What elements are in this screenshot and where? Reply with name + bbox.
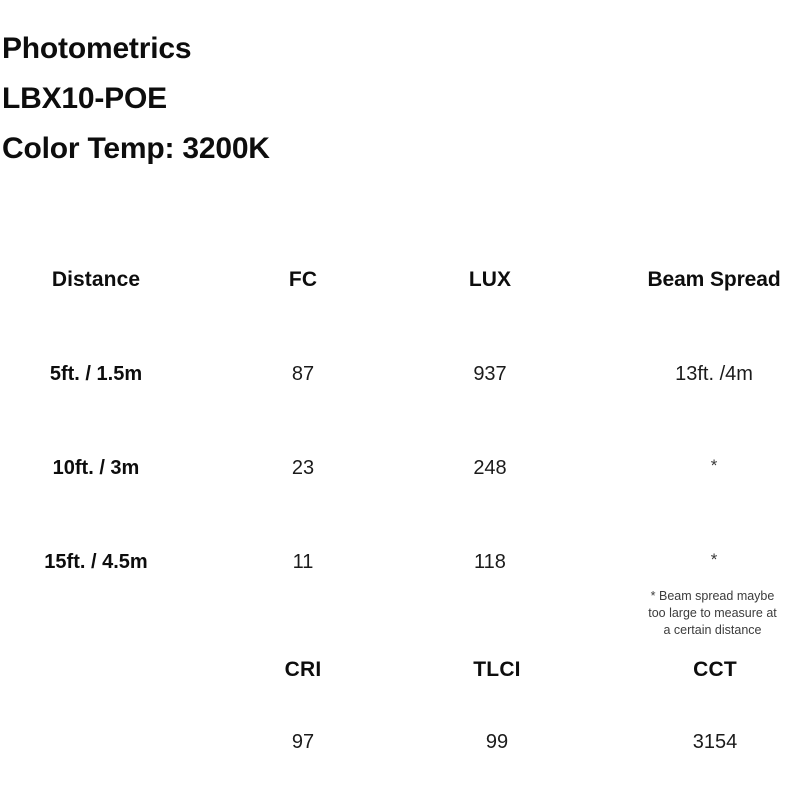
table-row: 5ft. / 1.5m 87 937 13ft. /4m — [0, 359, 800, 453]
document-title-block: Photometrics LBX10-POE Color Temp: 3200K — [2, 24, 702, 174]
page-title: Photometrics — [2, 24, 702, 74]
metrics-table: CRI TLCI CCT 97 99 3154 — [0, 655, 800, 799]
column-header-cri: CRI — [233, 655, 373, 685]
cell-distance: 15ft. / 4.5m — [0, 547, 192, 577]
column-header-distance: Distance — [0, 265, 192, 295]
table-header-row: Distance FC LUX Beam Spread — [0, 265, 800, 359]
cell-fc: 11 — [233, 547, 373, 577]
footnote-line-3: a certain distance — [620, 622, 800, 639]
cell-lux: 248 — [420, 453, 560, 483]
cell-beam-spread-asterisk: * — [628, 547, 800, 573]
cell-cri: 97 — [233, 727, 373, 757]
cell-tlci: 99 — [427, 727, 567, 757]
footnote: * Beam spread maybe too large to measure… — [620, 588, 800, 639]
footnote-line-2: too large to measure at — [620, 605, 800, 622]
column-header-beam-spread: Beam Spread — [628, 265, 800, 295]
cell-lux: 118 — [420, 547, 560, 577]
column-header-cct: CCT — [645, 655, 785, 685]
column-header-lux: LUX — [420, 265, 560, 295]
metrics-value-row: 97 99 3154 — [0, 727, 800, 799]
cell-distance: 5ft. / 1.5m — [0, 359, 192, 389]
product-model: LBX10-POE — [2, 74, 702, 124]
cell-distance: 10ft. / 3m — [0, 453, 192, 483]
color-temperature: Color Temp: 3200K — [2, 124, 702, 174]
cell-fc: 23 — [233, 453, 373, 483]
column-header-fc: FC — [233, 265, 373, 295]
cell-beam-spread-asterisk: * — [628, 453, 800, 479]
metrics-header-row: CRI TLCI CCT — [0, 655, 800, 727]
cell-fc: 87 — [233, 359, 373, 389]
table-row: 10ft. / 3m 23 248 * — [0, 453, 800, 547]
cell-beam-spread: 13ft. /4m — [628, 359, 800, 389]
photometrics-table: Distance FC LUX Beam Spread 5ft. / 1.5m … — [0, 265, 800, 641]
cell-cct: 3154 — [645, 727, 785, 757]
column-header-tlci: TLCI — [427, 655, 567, 685]
cell-lux: 937 — [420, 359, 560, 389]
footnote-line-1: * Beam spread maybe — [620, 588, 800, 605]
